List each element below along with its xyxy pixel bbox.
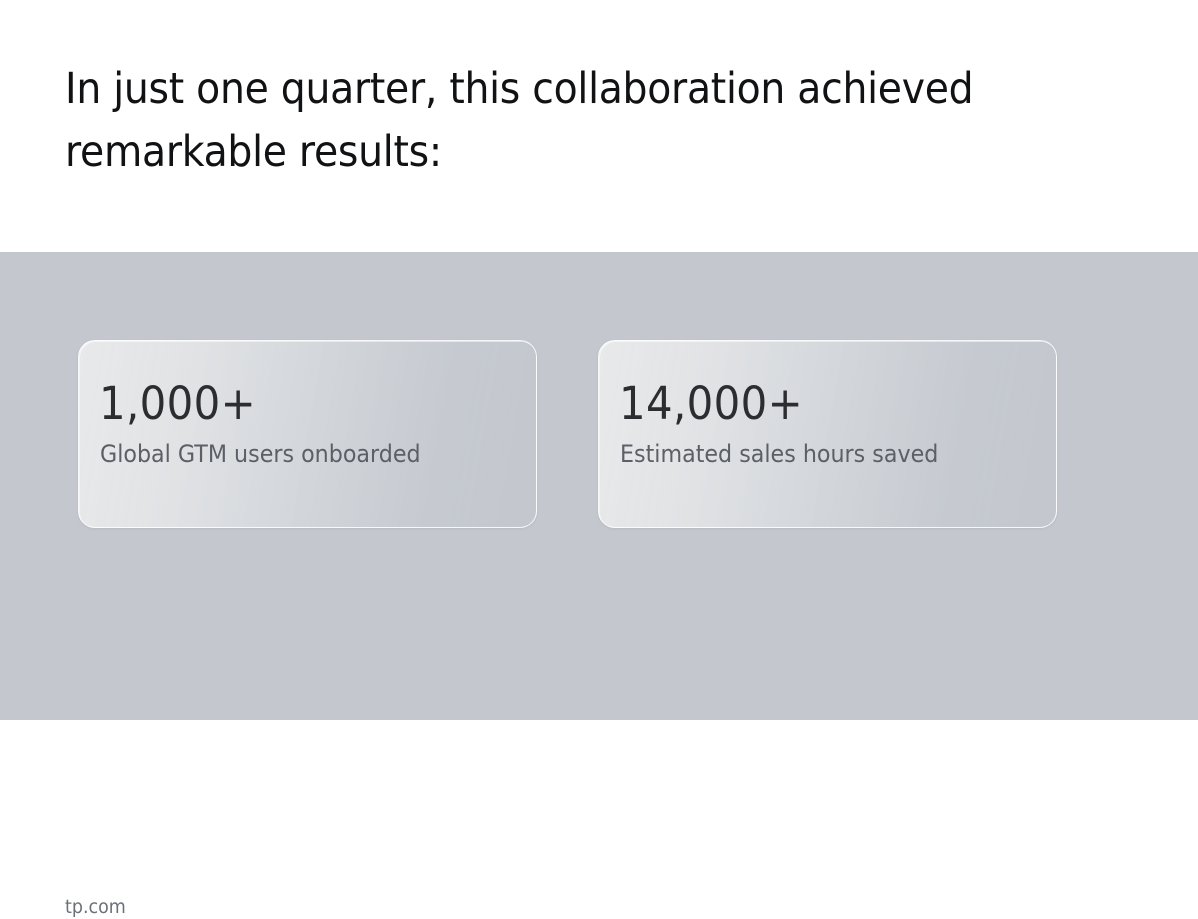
stat-card-content: 14,000+ Estimated sales hours saved [619,379,1042,469]
stat-cards-row: 1,000+ Global GTM users onboarded 14,000… [78,340,1057,528]
headline-section: In just one quarter, this collaboration … [0,0,1198,252]
stat-card-sales-hours-saved: 14,000+ Estimated sales hours saved [598,340,1057,528]
stat-value: 14,000+ [619,379,1012,429]
footer-url: tp.com [65,895,126,919]
stat-card-global-gtm-users: 1,000+ Global GTM users onboarded [78,340,537,528]
page-title: In just one quarter, this collaboration … [65,58,989,184]
stat-card-content: 1,000+ Global GTM users onboarded [99,379,522,469]
stats-band: 1,000+ Global GTM users onboarded 14,000… [0,252,1198,720]
stat-label: Estimated sales hours saved [620,439,1010,469]
stat-label: Global GTM users onboarded [100,439,490,469]
results-slide: In just one quarter, this collaboration … [0,0,1198,720]
stat-value: 1,000+ [99,379,492,429]
